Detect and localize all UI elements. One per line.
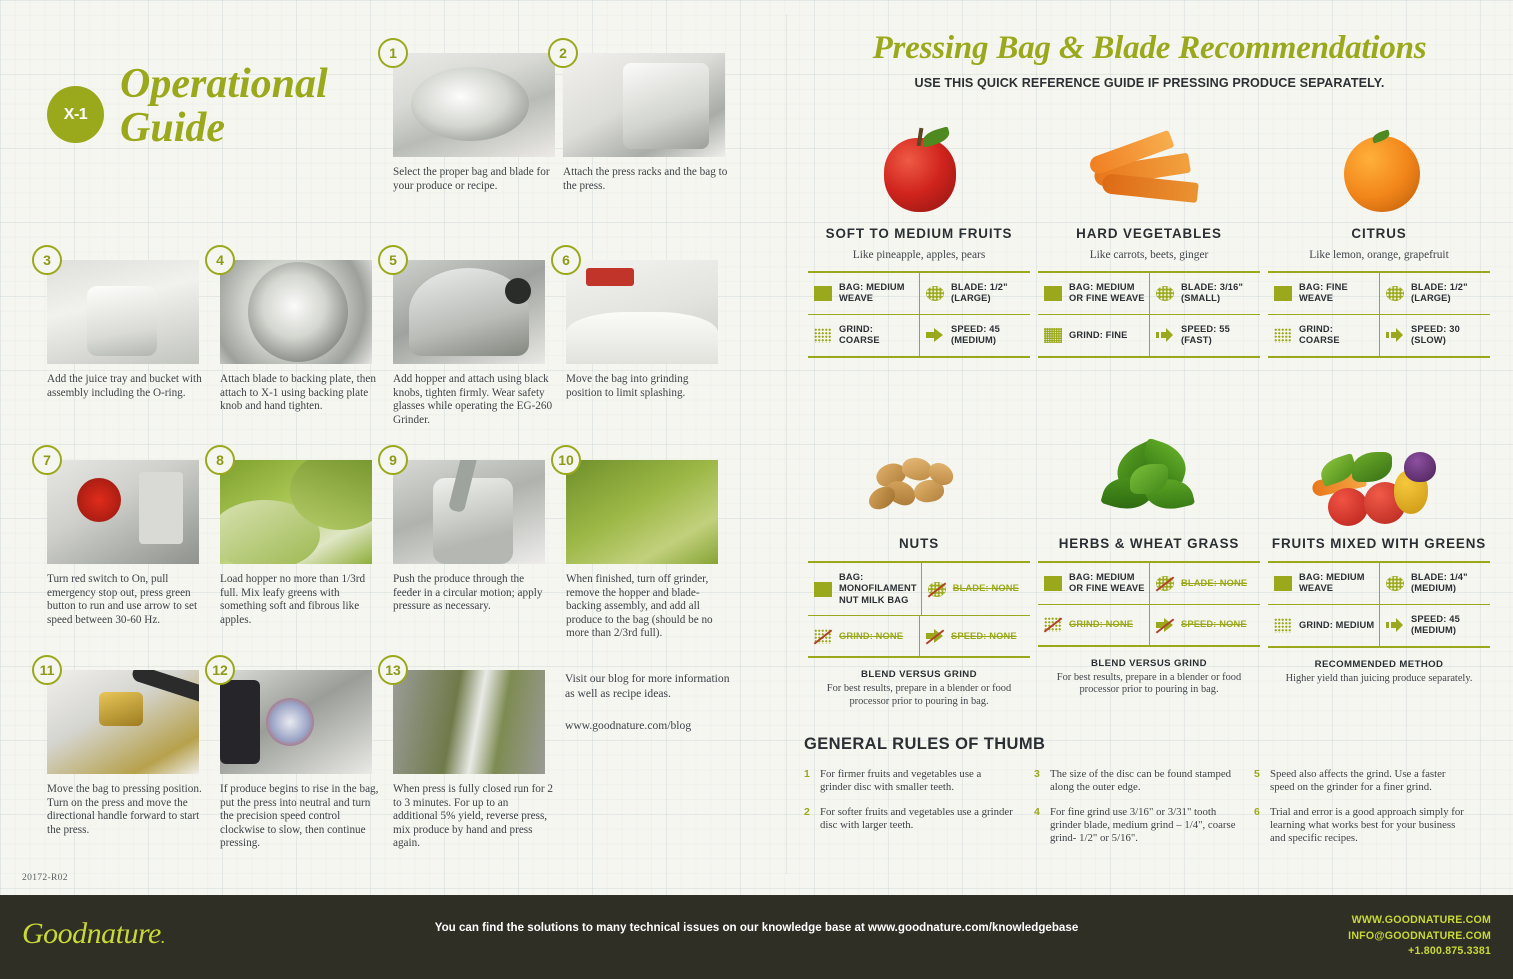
spec-row: BAG: MEDIUM WEAVE BLADE: 1/2" (LARGE) [808, 273, 1030, 314]
rule-text: For fine grind use 3/16" or 3/31" tooth … [1050, 806, 1244, 845]
step-caption: Select the proper bag and blade for your… [393, 166, 559, 193]
step-number: 6 [551, 245, 581, 275]
rule-number: 2 [804, 806, 813, 832]
step-caption: When finished, turn off grinder, remove … [566, 573, 726, 641]
step-number: 10 [551, 445, 581, 475]
footer-website[interactable]: WWW.GOODNATURE.COM [1348, 913, 1491, 929]
model-badge-x1: X-1 [47, 86, 104, 143]
recommendations-panel: Pressing Bag & Blade Recommendations USE… [786, 0, 1513, 895]
rule-item: 5 Speed also affects the grind. Use a fa… [1254, 768, 1464, 794]
step-photo-grinder-discs [393, 53, 555, 157]
spec-row: GRIND: COARSE SPEED: 30 (SLOW) [1268, 314, 1490, 356]
blade-icon [1156, 286, 1174, 301]
rule-item: 4 For fine grind use 3/16" or 3/31" toot… [1034, 806, 1244, 845]
recommendations-subtitle: USE THIS QUICK REFERENCE GUIDE IF PRESSI… [786, 76, 1513, 90]
spec-speed: SPEED: 30 (SLOW) [1379, 315, 1490, 356]
step-photo-bag-grinding-position [566, 260, 718, 364]
step-caption: Move the bag into grinding position to l… [566, 373, 726, 400]
speed-arrow-icon-disabled [926, 629, 944, 643]
spec-blade: BLADE: 1/4" (MEDIUM) [1379, 563, 1490, 604]
step-photo-leafy-greens [220, 460, 372, 564]
spec-bag: BAG: MEDIUM WEAVE [808, 273, 919, 314]
spec-blade: BLADE: 3/16" (SMALL) [1149, 273, 1260, 314]
speed-arrow-icon [926, 328, 944, 342]
bag-icon [1274, 286, 1292, 301]
page-title: Operational Guide [120, 62, 420, 150]
card-title: FRUITS MIXED WITH GREENS [1268, 536, 1490, 551]
rule-item: 3 The size of the disc can be found stam… [1034, 768, 1244, 794]
step-caption: Add hopper and attach using black knobs,… [393, 373, 553, 427]
card-note-title: RECOMMENDED METHOD [1268, 659, 1490, 670]
rule-number: 1 [804, 768, 813, 794]
rule-text: For softer fruits and vegetables use a g… [820, 806, 1014, 832]
recommendations-title: Pressing Bag & Blade Recommendations [786, 30, 1513, 67]
step-photo-ground-produce [566, 460, 718, 564]
spec-bag: BAG: MEDIUM OR FINE WEAVE [1038, 563, 1149, 604]
step-caption: Load hopper no more than 1/3rd full. Mix… [220, 573, 380, 627]
rule-number: 5 [1254, 768, 1263, 794]
spec-speed: SPEED: 45 (MEDIUM) [1379, 605, 1490, 646]
spec-row: BAG: MONOFILAMENT NUT MILK BAG BLADE: NO… [808, 563, 1030, 615]
step-caption: When press is fully closed run for 2 to … [393, 783, 553, 851]
spec-row: GRIND: COARSE SPEED: 45 (MEDIUM) [808, 314, 1030, 356]
step-number: 3 [32, 245, 62, 275]
rule-item: 2 For softer fruits and vegetables use a… [804, 806, 1014, 832]
spec-grid: BAG: MONOFILAMENT NUT MILK BAG BLADE: NO… [808, 561, 1030, 658]
recommendation-card-fruits-mixed-with-greens: FRUITS MIXED WITH GREENS BAG: MEDIUM WEA… [1268, 430, 1490, 685]
card-subtitle: Like lemon, orange, grapefruit [1268, 249, 1490, 261]
document-code: 20172-R02 [22, 872, 68, 883]
grind-icon-disabled [1044, 617, 1062, 632]
card-title: HARD VEGETABLES [1038, 226, 1260, 241]
rule-text: Trial and error is a good approach simpl… [1270, 806, 1464, 845]
spec-bag: BAG: MEDIUM OR FINE WEAVE [1038, 273, 1149, 314]
step-number: 7 [32, 445, 62, 475]
speed-arrow-icon [1386, 328, 1404, 342]
rule-text: Speed also affects the grind. Use a fast… [1270, 768, 1464, 794]
card-subtitle: Like carrots, beets, ginger [1038, 249, 1260, 261]
step-number: 9 [378, 445, 408, 475]
card-title: NUTS [808, 536, 1030, 551]
recommendation-card-herbs-wheat-grass: HERBS & WHEAT GRASS BAG: MEDIUM OR FINE … [1038, 430, 1260, 697]
card-note-title: BLEND VERSUS GRIND [1038, 658, 1260, 669]
spec-grid: BAG: MEDIUM WEAVE BLADE: 1/2" (LARGE) GR… [808, 271, 1030, 358]
bag-icon [1274, 576, 1292, 591]
spec-grid: BAG: MEDIUM WEAVE BLADE: 1/4" (MEDIUM) G… [1268, 561, 1490, 648]
spec-speed: SPEED: NONE [1149, 605, 1260, 645]
spec-row: GRIND: MEDIUM SPEED: 45 (MEDIUM) [1268, 604, 1490, 646]
step-caption: Add the juice tray and bucket with assem… [47, 373, 207, 400]
spec-blade: BLADE: 1/2" (LARGE) [1379, 273, 1490, 314]
spec-grind: GRIND: COARSE [808, 315, 919, 356]
step-number: 8 [205, 445, 235, 475]
poster-sheet: X-1 Operational Guide 1 Select the prope… [0, 0, 1513, 895]
step-number: 11 [32, 655, 62, 685]
grind-icon-disabled [814, 629, 832, 644]
bag-icon [814, 286, 832, 301]
rule-item: 1 For firmer fruits and vegetables use a… [804, 768, 1014, 794]
card-note-body: For best results, prepare in a blender o… [1038, 672, 1260, 697]
speed-arrow-icon [1156, 328, 1174, 342]
produce-illustration-apple [808, 120, 1030, 220]
recommendation-card-hard-vegetables: HARD VEGETABLES Like carrots, beets, gin… [1038, 120, 1260, 358]
card-note-body: For best results, prepare in a blender o… [808, 683, 1030, 708]
card-title: SOFT TO MEDIUM FRUITS [808, 226, 1030, 241]
step-number: 12 [205, 655, 235, 685]
step-caption: Push the produce through the feeder in a… [393, 573, 553, 614]
step-number: 2 [548, 38, 578, 68]
spec-speed: SPEED: 55 (FAST) [1149, 315, 1260, 356]
step-photo-blade-backing-plate [220, 260, 372, 364]
blog-note-text: Visit our blog for more information as w… [565, 672, 730, 700]
produce-illustration-almonds [808, 430, 1030, 530]
blade-icon [926, 286, 944, 301]
footer-message: You can find the solutions to many techn… [0, 921, 1513, 934]
rule-text: For firmer fruits and vegetables use a g… [820, 768, 1014, 794]
step-number: 4 [205, 245, 235, 275]
bag-icon [1044, 286, 1062, 301]
step-photo-juice-tray [47, 260, 199, 364]
grind-icon [1044, 328, 1062, 343]
rule-item: 6 Trial and error is a good approach sim… [1254, 806, 1464, 845]
footer-bar: Goodnature. You can find the solutions t… [0, 895, 1513, 979]
step-caption: Move the bag to pressing position. Turn … [47, 783, 207, 837]
spec-grid: BAG: MEDIUM OR FINE WEAVE BLADE: NONE GR… [1038, 561, 1260, 647]
step-number: 1 [378, 38, 408, 68]
spec-blade: BLADE: NONE [1149, 563, 1260, 604]
blade-icon-disabled [1156, 576, 1174, 591]
step-photo-press-closed [393, 670, 545, 774]
spec-row: GRIND: NONE SPEED: NONE [1038, 604, 1260, 645]
rule-text: The size of the disc can be found stampe… [1050, 768, 1244, 794]
step-photo-feeding-produce [393, 460, 545, 564]
spec-bag: BAG: FINE WEAVE [1268, 273, 1379, 314]
spec-row: BAG: FINE WEAVE BLADE: 1/2" (LARGE) [1268, 273, 1490, 314]
blog-url[interactable]: www.goodnature.com/blog [565, 718, 730, 733]
operational-guide-panel: X-1 Operational Guide 1 Select the prope… [0, 0, 760, 895]
spec-row: GRIND: FINE SPEED: 55 (FAST) [1038, 314, 1260, 356]
rule-number: 6 [1254, 806, 1263, 845]
blade-icon [1386, 286, 1404, 301]
rule-number: 4 [1034, 806, 1043, 845]
step-photo-pressing-position [47, 670, 199, 774]
spec-blade: BLADE: NONE [921, 563, 1030, 615]
spec-grind: GRIND: MEDIUM [1268, 605, 1379, 646]
step-number: 5 [378, 245, 408, 275]
blade-icon [1386, 576, 1404, 591]
spec-grid: BAG: FINE WEAVE BLADE: 1/2" (LARGE) GRIN… [1268, 271, 1490, 358]
spec-blade: BLADE: 1/2" (LARGE) [919, 273, 1030, 314]
spec-bag: BAG: MONOFILAMENT NUT MILK BAG [808, 563, 921, 615]
card-title: HERBS & WHEAT GRASS [1038, 536, 1260, 551]
blade-icon-disabled [928, 582, 946, 597]
spec-row: BAG: MEDIUM WEAVE BLADE: 1/4" (MEDIUM) [1268, 563, 1490, 604]
grind-icon [1274, 328, 1292, 343]
footer-contact: WWW.GOODNATURE.COM INFO@GOODNATURE.COM +… [1348, 913, 1491, 960]
spec-grind: GRIND: COARSE [1268, 315, 1379, 356]
spec-grind: GRIND: FINE [1038, 315, 1149, 356]
step-number: 13 [378, 655, 408, 685]
recommendation-card-nuts: NUTS BAG: MONOFILAMENT NUT MILK BAG BLAD… [808, 430, 1030, 708]
recommendation-card-soft-to-medium-fruits: SOFT TO MEDIUM FRUITS Like pineapple, ap… [808, 120, 1030, 358]
spec-speed: SPEED: NONE [919, 616, 1030, 656]
spec-row: BAG: MEDIUM OR FINE WEAVE BLADE: 3/16" (… [1038, 273, 1260, 314]
bag-icon [1044, 576, 1062, 591]
spec-grind: GRIND: NONE [1038, 605, 1149, 645]
step-photo-press-racks [563, 53, 725, 157]
spec-row: BAG: MEDIUM OR FINE WEAVE BLADE: NONE [1038, 563, 1260, 604]
speed-arrow-icon [1386, 618, 1404, 632]
produce-illustration-herbs [1038, 430, 1260, 530]
step-caption: Turn red switch to On, pull emergency st… [47, 573, 207, 627]
speed-arrow-icon-disabled [1156, 618, 1174, 632]
recommendation-card-citrus: CITRUS Like lemon, orange, grapefruit BA… [1268, 120, 1490, 358]
blog-note: Visit our blog for more information as w… [565, 671, 730, 733]
rules-title: GENERAL RULES OF THUMB [804, 735, 1045, 754]
step-photo-speed-control-knob [220, 670, 372, 774]
spec-speed: SPEED: 45 (MEDIUM) [919, 315, 1030, 356]
card-note-body: Higher yield than juicing produce separa… [1268, 673, 1490, 686]
footer-phone[interactable]: +1.800.875.3381 [1348, 944, 1491, 960]
grind-icon [1274, 618, 1292, 633]
produce-illustration-mixed-produce [1268, 430, 1490, 530]
grind-icon [814, 328, 832, 343]
bag-icon [814, 582, 832, 597]
card-title: CITRUS [1268, 226, 1490, 241]
spec-grid: BAG: MEDIUM OR FINE WEAVE BLADE: 3/16" (… [1038, 271, 1260, 358]
card-note-title: BLEND VERSUS GRIND [808, 669, 1030, 680]
produce-illustration-orange [1268, 120, 1490, 220]
step-photo-control-switch [47, 460, 199, 564]
produce-illustration-carrots [1038, 120, 1260, 220]
spec-row: GRIND: NONE SPEED: NONE [808, 615, 1030, 656]
spec-grind: GRIND: NONE [808, 616, 919, 656]
footer-email[interactable]: INFO@GOODNATURE.COM [1348, 929, 1491, 945]
spec-bag: BAG: MEDIUM WEAVE [1268, 563, 1379, 604]
step-caption: Attach blade to backing plate, then atta… [220, 373, 380, 414]
rule-number: 3 [1034, 768, 1043, 794]
step-caption: If produce begins to rise in the bag, pu… [220, 783, 380, 851]
step-caption: Attach the press racks and the bag to th… [563, 166, 729, 193]
card-subtitle: Like pineapple, apples, pears [808, 249, 1030, 261]
step-photo-hopper [393, 260, 545, 364]
